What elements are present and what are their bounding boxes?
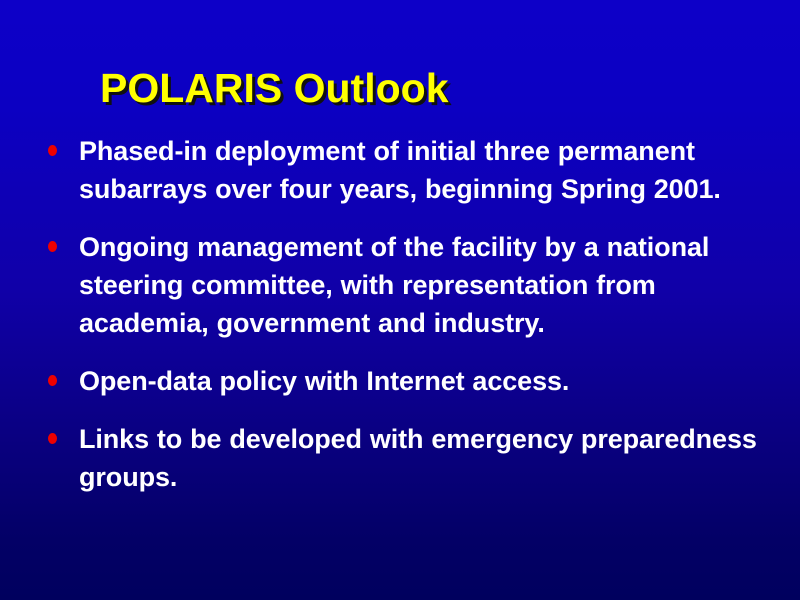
presentation-slide: POLARIS Outlook Phased-in deployment of … — [0, 0, 800, 600]
red-dot-bullet-icon — [48, 145, 57, 156]
list-item: Open-data policy with Internet access. — [40, 362, 792, 400]
red-dot-bullet-icon — [48, 241, 57, 252]
list-item: Ongoing management of the facility by a … — [40, 228, 792, 342]
list-item: Phased-in deployment of initial three pe… — [40, 132, 792, 208]
red-dot-bullet-icon — [48, 433, 57, 444]
page-title: POLARIS Outlook — [100, 64, 760, 112]
list-item-label: Open-data policy with Internet access. — [79, 362, 792, 400]
list-item-label: Ongoing management of the facility by a … — [79, 228, 792, 342]
list-item: Links to be developed with emergency pre… — [40, 420, 792, 496]
slide-title-block: POLARIS Outlook — [100, 64, 760, 116]
bullet-list: Phased-in deployment of initial three pe… — [40, 132, 792, 496]
list-item-label: Links to be developed with emergency pre… — [79, 420, 792, 496]
list-item-label: Phased-in deployment of initial three pe… — [79, 132, 792, 208]
red-dot-bullet-icon — [48, 375, 57, 386]
